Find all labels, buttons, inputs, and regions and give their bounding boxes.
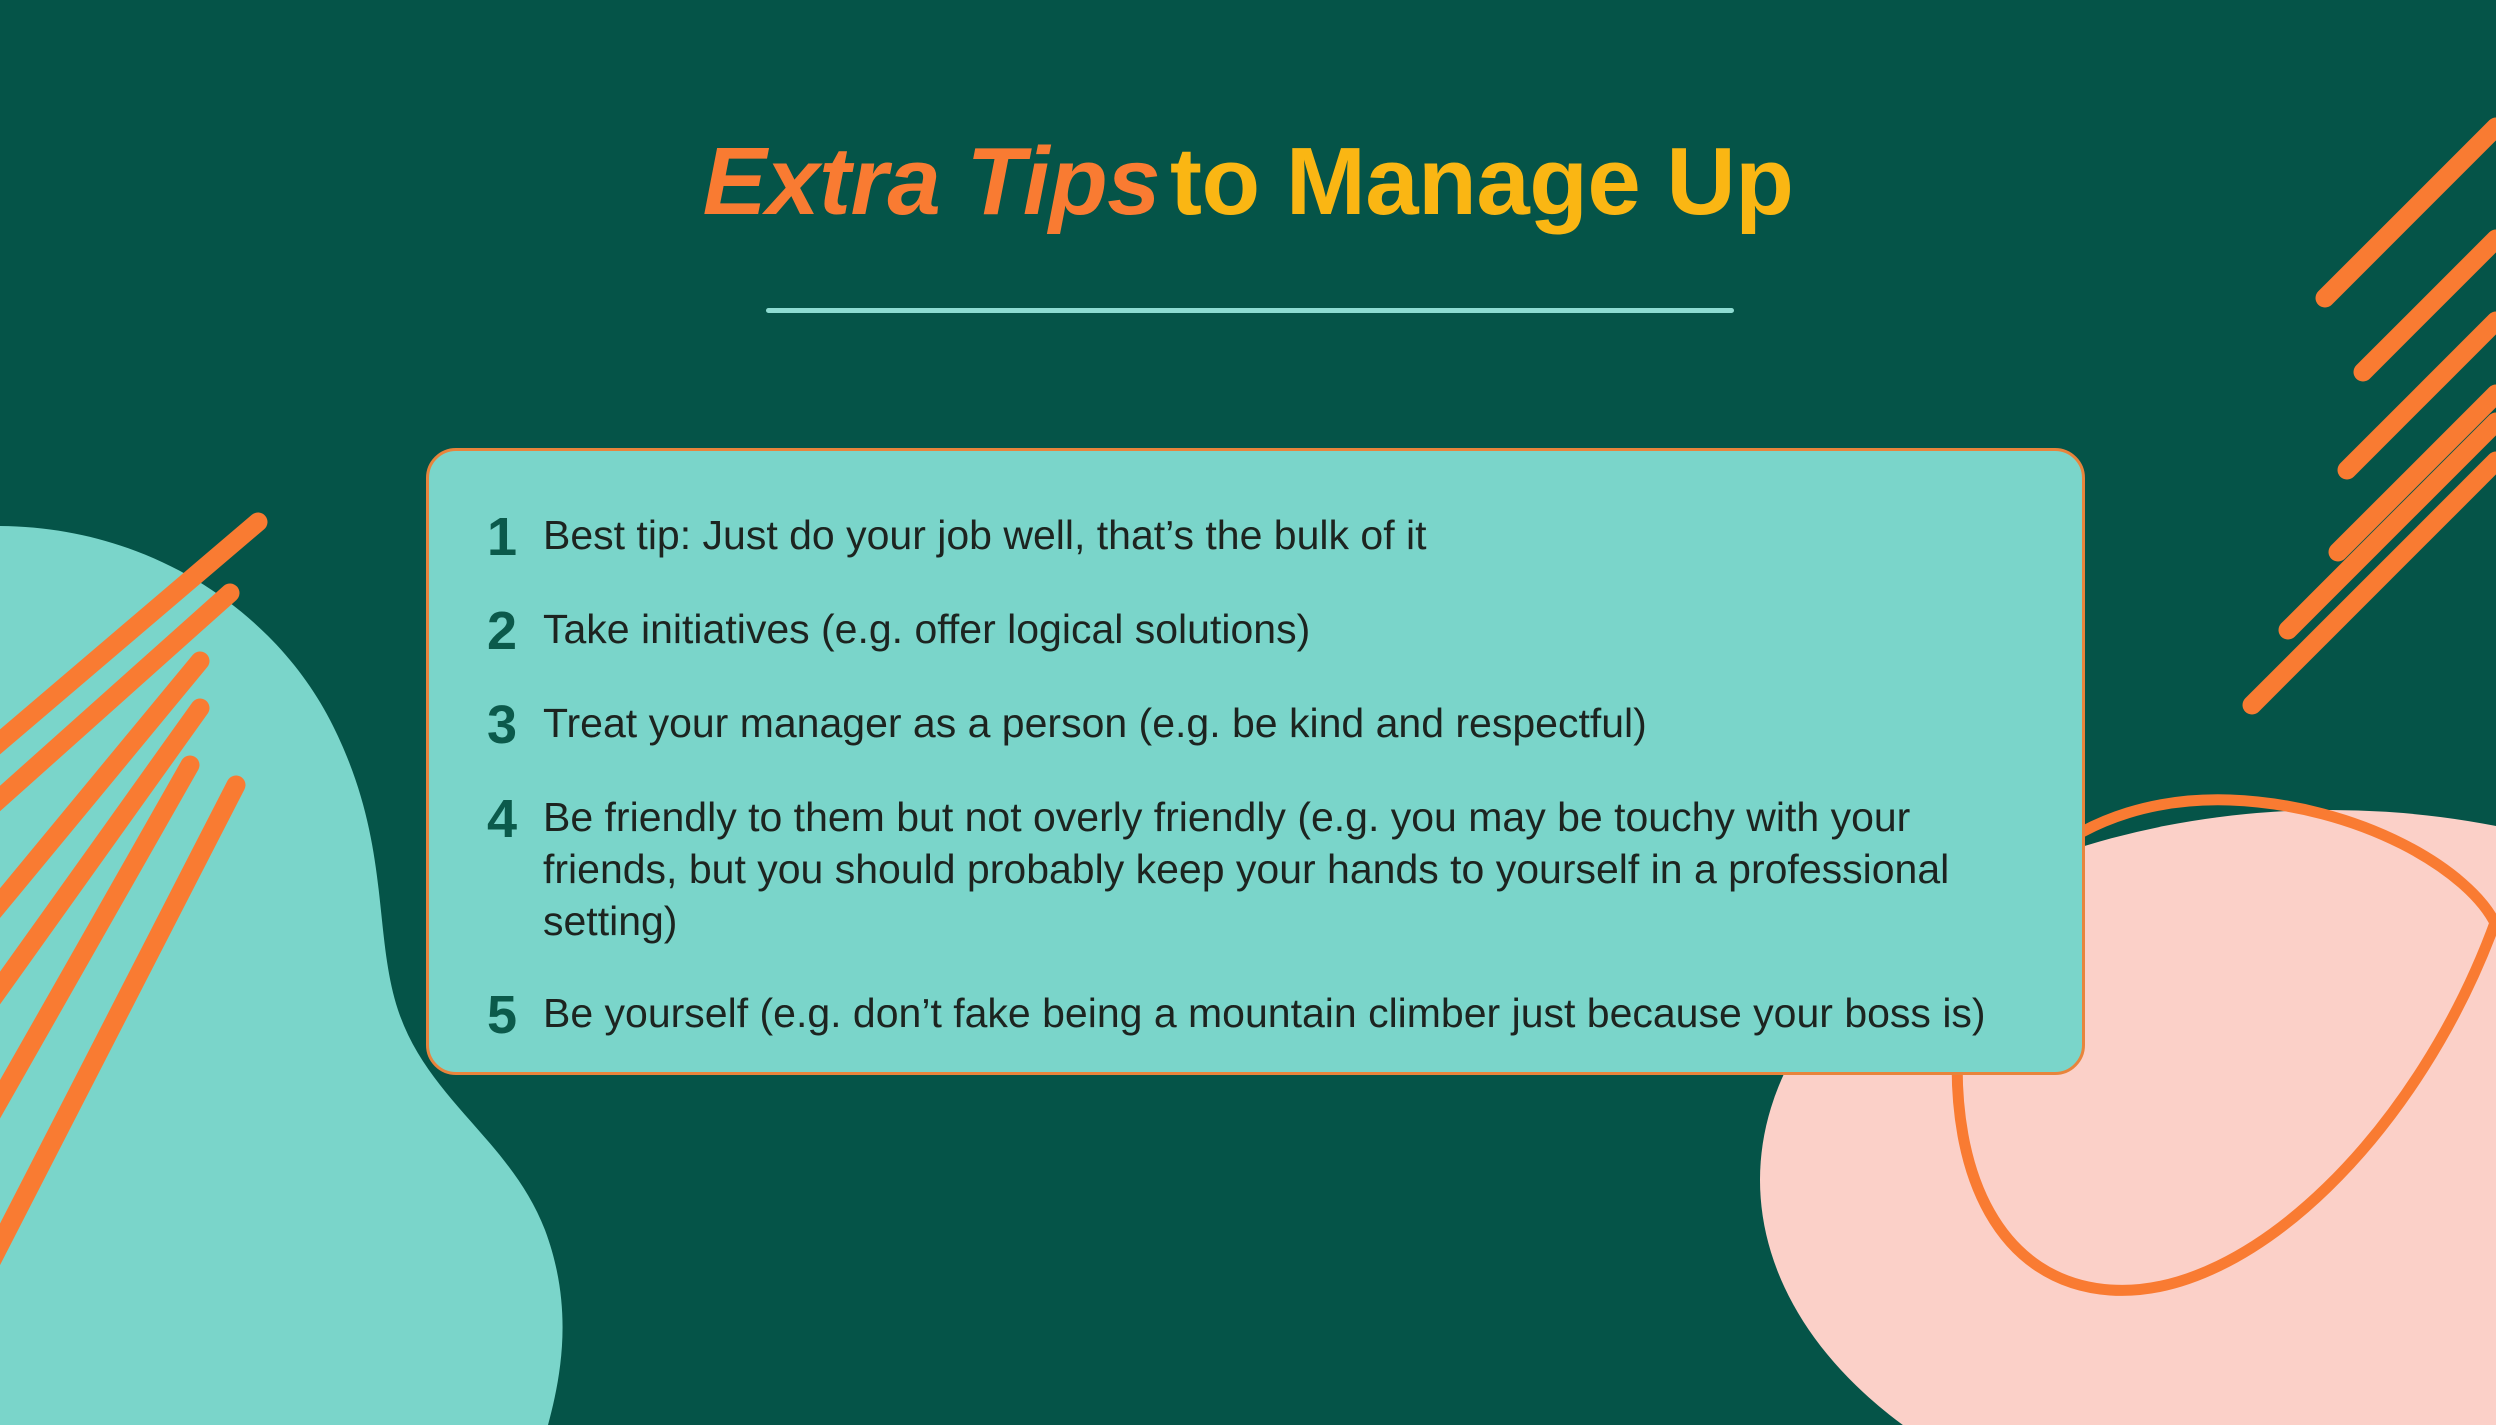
list-item: 3 Treat your manager as a person (e.g. b…	[487, 697, 2026, 751]
list-item: 1 Best tip: Just do your job well, that’…	[487, 509, 2026, 563]
tip-number: 1	[487, 509, 543, 563]
stripe-bl-1	[0, 522, 258, 810]
tip-text: Best tip: Just do your job well, that’s …	[543, 509, 2026, 561]
tip-number: 5	[487, 987, 543, 1041]
stripe-bl-4	[0, 708, 200, 1100]
stripe-tr-5	[2288, 422, 2496, 630]
title-divider	[766, 308, 1734, 313]
stripe-bl-6	[0, 785, 236, 1400]
bottom-left-stripe-group	[0, 522, 258, 1400]
list-item: 4 Be friendly to them but not overly fri…	[487, 791, 2026, 947]
tip-text: Take initiatives (e.g. offer logical sol…	[543, 603, 2026, 655]
title-block: Extra Tipsto Manage Up	[0, 132, 2496, 233]
slide-canvas: Extra Tipsto Manage Up 1 Best tip: Just …	[0, 0, 2496, 1425]
stripe-tr-2	[2363, 239, 2496, 372]
page-title: Extra Tipsto Manage Up	[0, 132, 2496, 233]
stripe-bl-5	[0, 765, 190, 1240]
list-item: 2 Take initiatives (e.g. offer logical s…	[487, 603, 2026, 657]
tip-number: 4	[487, 791, 543, 845]
stripe-bl-2	[0, 593, 230, 870]
tip-number: 3	[487, 697, 543, 751]
stripe-bl-3	[0, 661, 200, 1000]
tip-text: Treat your manager as a person (e.g. be …	[543, 697, 2026, 749]
tips-card: 1 Best tip: Just do your job well, that’…	[426, 448, 2085, 1075]
tips-list: 1 Best tip: Just do your job well, that’…	[487, 509, 2026, 1041]
stripe-tr-4	[2338, 394, 2496, 552]
stripe-tr-3	[2347, 321, 2496, 470]
stripe-tr-6	[2252, 461, 2496, 705]
title-rest-text: to Manage Up	[1170, 128, 1793, 235]
list-item: 5 Be yourself (e.g. don’t fake being a m…	[487, 987, 2026, 1041]
tip-text: Be yourself (e.g. don’t fake being a mou…	[543, 987, 2026, 1039]
title-accent-text: Extra Tips	[703, 128, 1170, 235]
tip-text: Be friendly to them but not overly frien…	[543, 791, 2026, 947]
tip-number: 2	[487, 603, 543, 657]
